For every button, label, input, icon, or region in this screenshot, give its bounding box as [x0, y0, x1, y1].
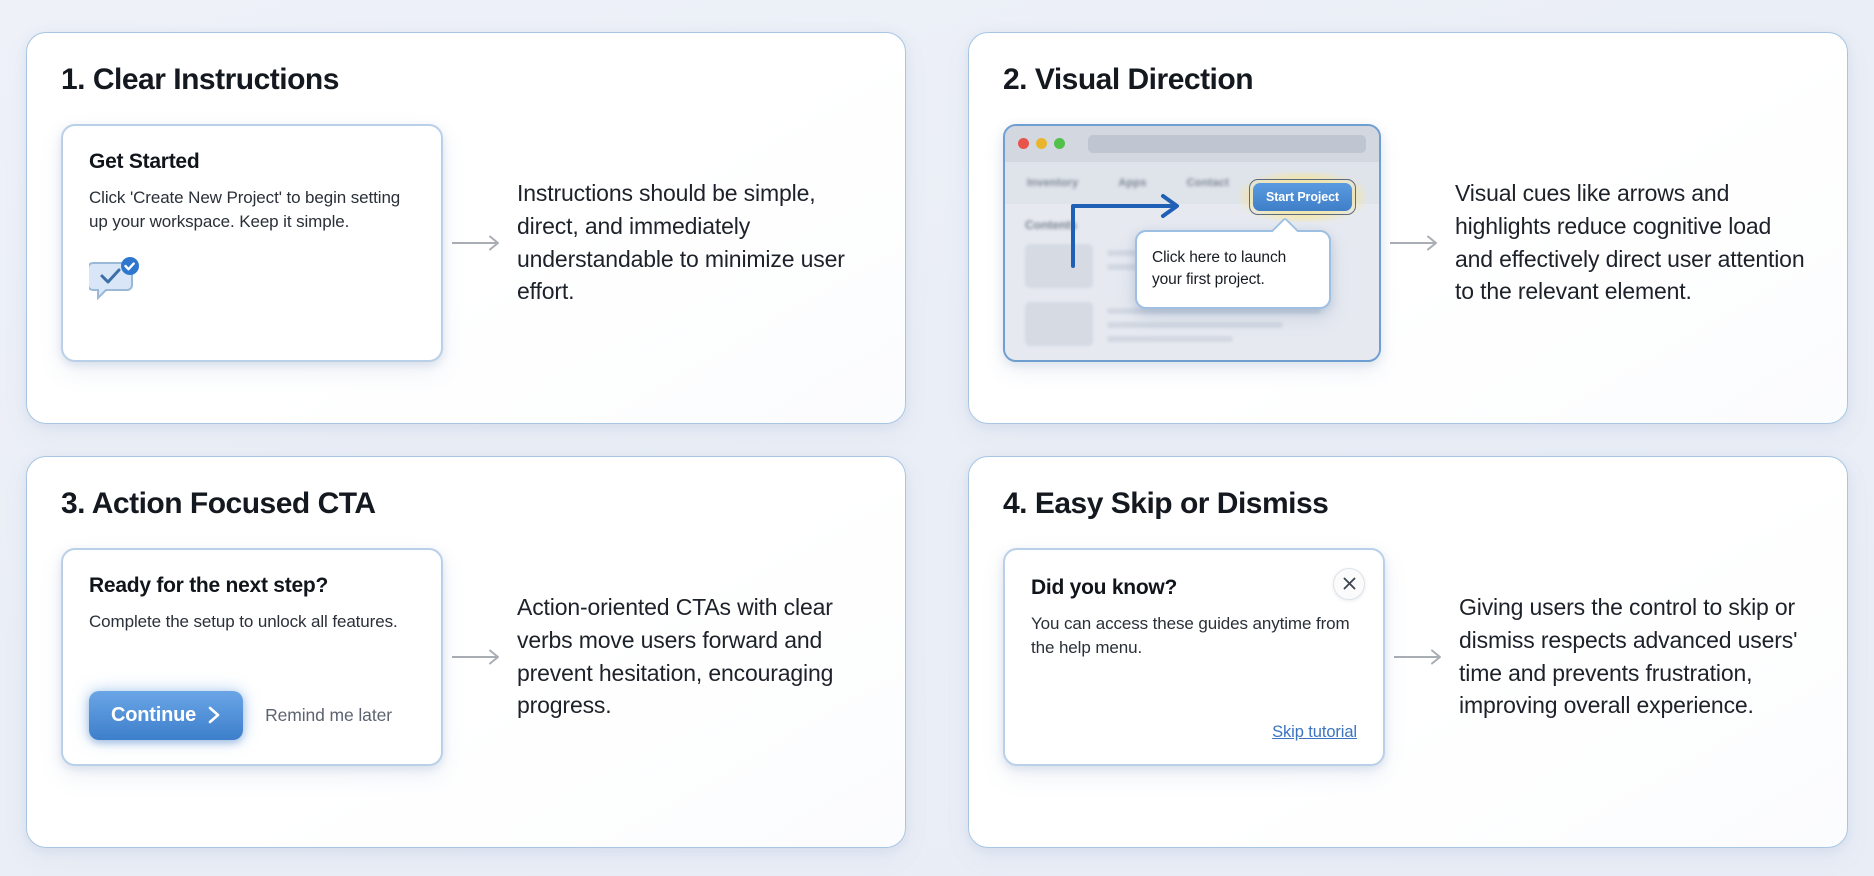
- connector-arrow-wrapper: [443, 234, 517, 252]
- browser-chrome: [1005, 126, 1379, 162]
- arrow-right-icon: [1390, 234, 1446, 252]
- chevron-right-icon: [208, 705, 221, 725]
- traffic-light-minimize-icon[interactable]: [1036, 138, 1047, 149]
- traffic-light-maximize-icon[interactable]: [1054, 138, 1065, 149]
- mock-heading: Get Started: [89, 150, 415, 174]
- browser-window-mock: Inventory Apps Contact Contents: [1003, 124, 1381, 362]
- onboarding-tooltip: Click here to launch your first project.: [1135, 230, 1331, 309]
- close-button[interactable]: [1333, 568, 1365, 600]
- visual-column: Inventory Apps Contact Contents: [1003, 124, 1381, 362]
- card-title: 1. Clear Instructions: [61, 63, 871, 98]
- get-started-tooltip-mock: Get Started Click 'Create New Project' t…: [61, 124, 443, 362]
- connector-arrow-wrapper: [1385, 648, 1459, 666]
- card-action-focused-cta: 3. Action Focused CTA Ready for the next…: [26, 456, 906, 848]
- skeleton-row: [1025, 302, 1359, 350]
- start-project-button[interactable]: Start Project: [1253, 183, 1352, 211]
- address-bar[interactable]: [1088, 135, 1366, 153]
- visual-column: Get Started Click 'Create New Project' t…: [61, 124, 443, 362]
- close-icon: [1342, 576, 1357, 591]
- continue-button[interactable]: Continue: [89, 691, 243, 740]
- card-description: Giving users the control to skip or dism…: [1459, 591, 1813, 722]
- continue-button-label: Continue: [111, 704, 196, 727]
- tooltip-text: Click here to launch your first project.: [1152, 247, 1314, 291]
- mock-body-text: You can access these guides anytime from…: [1031, 612, 1357, 662]
- dismiss-dialog-mock: Did you know? You can access these guide…: [1003, 548, 1385, 766]
- highlight-glow: Start Project: [1240, 172, 1365, 222]
- principles-grid: 1. Clear Instructions Get Started Click …: [26, 32, 1848, 848]
- mock-heading: Did you know?: [1031, 576, 1357, 600]
- chat-check-icon: [89, 257, 415, 306]
- connector-arrow-wrapper: [1381, 234, 1455, 252]
- mock-body-text: Complete the setup to unlock all feature…: [89, 610, 415, 635]
- card-description: Visual cues like arrows and highlights r…: [1455, 177, 1813, 308]
- skip-row: Skip tutorial: [1031, 697, 1357, 742]
- cta-actions-row: Continue Remind me later: [89, 665, 415, 740]
- card-title: 4. Easy Skip or Dismiss: [1003, 487, 1813, 522]
- highlight-ring: Start Project: [1249, 179, 1356, 215]
- card-description: Instructions should be simple, direct, a…: [517, 177, 871, 308]
- visual-column: Ready for the next step? Complete the se…: [61, 548, 443, 766]
- card-clear-instructions: 1. Clear Instructions Get Started Click …: [26, 32, 906, 424]
- arrow-right-icon: [452, 648, 508, 666]
- traffic-light-close-icon[interactable]: [1018, 138, 1029, 149]
- connector-arrow-wrapper: [443, 648, 517, 666]
- card-title: 3. Action Focused CTA: [61, 487, 871, 522]
- cta-card-mock: Ready for the next step? Complete the se…: [61, 548, 443, 766]
- mock-body-text: Click 'Create New Project' to begin sett…: [89, 186, 415, 236]
- card-description: Action-oriented CTAs with clear verbs mo…: [517, 591, 871, 722]
- arrow-right-icon: [452, 234, 508, 252]
- card-easy-skip-or-dismiss: 4. Easy Skip or Dismiss Did you know? Yo…: [968, 456, 1848, 848]
- arrow-right-icon: [1394, 648, 1450, 666]
- mock-heading: Ready for the next step?: [89, 574, 415, 598]
- card-body: Did you know? You can access these guide…: [1003, 548, 1813, 766]
- card-body: Ready for the next step? Complete the se…: [61, 548, 871, 766]
- visual-column: Did you know? You can access these guide…: [1003, 548, 1385, 766]
- card-body: Get Started Click 'Create New Project' t…: [61, 124, 871, 362]
- skip-tutorial-link[interactable]: Skip tutorial: [1272, 723, 1357, 741]
- card-body: Inventory Apps Contact Contents: [1003, 124, 1813, 362]
- skeleton-lines: [1107, 302, 1359, 350]
- card-title: 2. Visual Direction: [1003, 63, 1813, 98]
- skeleton-thumbnail: [1025, 302, 1093, 346]
- card-visual-direction: 2. Visual Direction Inventory Apps Conta…: [968, 32, 1848, 424]
- remind-me-later-link[interactable]: Remind me later: [265, 705, 392, 726]
